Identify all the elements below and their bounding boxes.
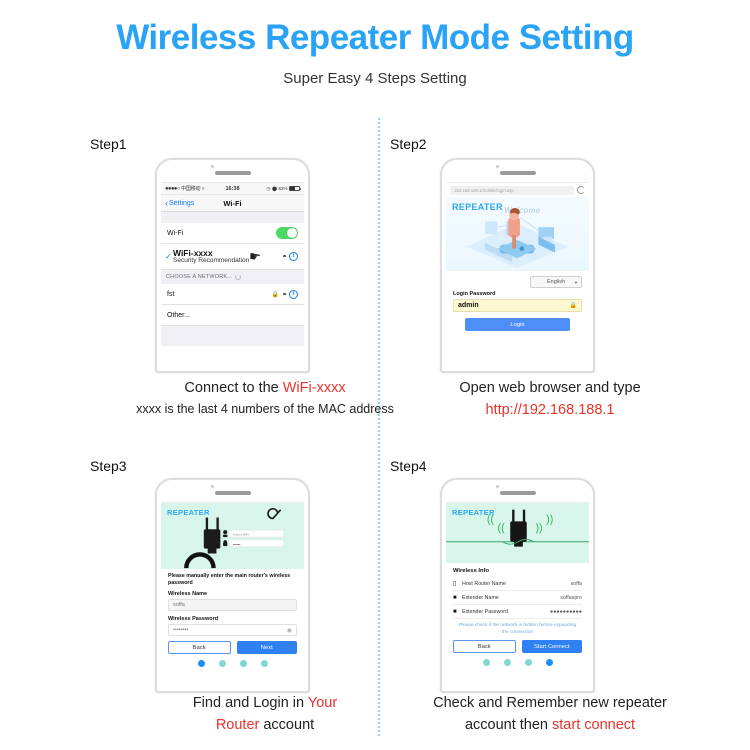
repeater-hero-banner: REPEATER Admin-WiFi •• [161, 503, 304, 569]
url-input[interactable]: 192.168.188.1/mobile/login.asp [450, 186, 574, 195]
ios-status-bar: ●●●●○ 中国移动 ▿ 16:38 ◷ ⬤ 52% [161, 183, 304, 195]
form-buttons: Back Next [168, 641, 297, 654]
step-2-caption: Open web browser and type http://192.168… [400, 378, 700, 422]
checkmark-icon: ✓ [165, 252, 173, 261]
repeater-waves-illustration: (( (( )) )) [446, 503, 589, 563]
signal-dots-icon: ●●●●○ [165, 186, 180, 192]
loading-spinner-icon [235, 274, 241, 280]
lock-icon: 🔒 [272, 291, 279, 298]
router-icon: ▯ [453, 580, 462, 587]
language-select[interactable]: English ▼ [530, 276, 582, 288]
wifi-signal-icon: ◓ [282, 290, 287, 299]
language-value: English [547, 279, 565, 285]
phone-screen: 192.168.188.1/mobile/login.asp REPEATER … [446, 182, 589, 371]
browser-address-bar[interactable]: 192.168.188.1/mobile/login.asp [446, 183, 589, 197]
phone-bezel [442, 160, 593, 182]
clock-label: 16:38 [225, 186, 239, 192]
speaker-icon [500, 491, 536, 495]
phone-bezel [157, 160, 308, 182]
progress-dot [546, 659, 553, 666]
reload-icon[interactable] [577, 186, 585, 194]
repeater-device-illustration: Admin-WiFi •••••• [161, 503, 304, 569]
step-2-phone: 192.168.188.1/mobile/login.asp REPEATER … [440, 158, 595, 373]
info-icon[interactable]: i [289, 252, 298, 261]
step-progress-dots [453, 659, 582, 666]
progress-dot [504, 659, 511, 666]
chevron-down-icon: ▼ [574, 280, 578, 285]
phone-bezel [157, 480, 308, 502]
battery-percent-label: 52% [279, 186, 288, 191]
battery-icon [289, 186, 300, 191]
phone-screen: ●●●●○ 中国移动 ▿ 16:38 ◷ ⬤ 52% ‹ S [161, 182, 304, 371]
step-3-label: Step3 [90, 458, 127, 474]
svg-text:••••••: •••••• [233, 542, 241, 546]
wireless-name-value: soffa [173, 602, 185, 608]
phone-screen: REPEATER (( (( )) )) [446, 502, 589, 691]
step-3-phone: REPEATER Admin-WiFi •• [155, 478, 310, 693]
login-hero-banner: REPEATER Welcome [446, 197, 589, 271]
ios-bottom-gap [161, 326, 304, 346]
lock-icon: 🔒 [570, 302, 577, 309]
isometric-illustration [446, 197, 589, 271]
progress-dot [198, 660, 205, 667]
wifi-signal-icon: ◓ [282, 252, 287, 261]
info-row-label: Host Router Name [462, 581, 571, 587]
extender-icon: ■ [453, 595, 462, 601]
step-4-phone: REPEATER (( (( )) )) [440, 478, 595, 693]
wifi-icon: ▿ [202, 186, 204, 192]
caption-line-1: Connect to the WiFi-xxxx [115, 378, 415, 400]
progress-dot [261, 660, 268, 667]
info-icon[interactable]: i [289, 290, 298, 299]
wifi-toggle[interactable] [276, 227, 298, 239]
start-connect-button[interactable]: Start Connect [522, 640, 583, 653]
step-1-caption: Connect to the WiFi-xxxx xxxx is the las… [115, 378, 415, 419]
ios-nav-bar: ‹ Settings Wi-Fi [161, 195, 304, 212]
wifi-toggle-label: Wi-Fi [167, 230, 276, 237]
camera-icon [496, 165, 499, 168]
progress-dot [219, 660, 226, 667]
info-row-value: soffaspro [560, 595, 582, 601]
info-row-extender-name: ■ Extender Name soffaspro [453, 591, 582, 605]
svg-text:)): )) [546, 513, 553, 525]
caption-line-1: Check and Remember new repeater [380, 693, 720, 715]
form-note: Please manually enter the main router's … [168, 573, 297, 587]
caption-line-2: Router account [115, 715, 415, 737]
caption-line-2: xxxx is the last 4 numbers of the MAC ad… [115, 400, 415, 419]
progress-dot [240, 660, 247, 667]
network-name: Other... [167, 312, 298, 319]
camera-icon [211, 485, 214, 488]
vertical-divider [378, 118, 380, 736]
phone-bezel [442, 480, 593, 502]
repeater-connect-banner: REPEATER (( (( )) )) [446, 503, 589, 563]
infographic-page: Wireless Repeater Mode Setting Super Eas… [0, 0, 750, 750]
extender-icon: ■ [453, 609, 462, 615]
svg-text:((: (( [487, 513, 495, 525]
form-buttons: Back Start Connect [453, 640, 582, 653]
info-row-host-router: ▯ Host Router Name soffa [453, 577, 582, 591]
page-subtitle: Super Easy 4 Steps Setting [0, 70, 750, 87]
wireless-info-panel: Wireless Info ▯ Host Router Name soffa ■… [446, 568, 589, 666]
phone-screen: REPEATER Admin-WiFi •• [161, 502, 304, 691]
info-row-extender-password: ■ Extender Password ●●●●●●●●●● [453, 605, 582, 619]
caption-line-1: Find and Login in Your [115, 693, 415, 715]
svg-text:((: (( [498, 522, 506, 534]
connected-network-subtitle: Security Recommendation [173, 258, 280, 265]
login-password-value: admin [458, 302, 479, 309]
bluetooth-icon: ⬤ [272, 186, 277, 192]
next-button[interactable]: Next [237, 641, 298, 654]
network-name: fst [167, 291, 272, 298]
login-form: English ▼ Login Password admin 🔒 Login [446, 271, 589, 331]
step-1-phone: ●●●●○ 中国移动 ▿ 16:38 ◷ ⬤ 52% ‹ S [155, 158, 310, 373]
step-3-caption: Find and Login in Your Router account [115, 693, 415, 737]
wireless-form: Please manually enter the main router's … [161, 569, 304, 667]
wireless-password-value: •••••••• [173, 627, 188, 633]
caption-line-2: account then start connect [380, 715, 720, 737]
login-password-label: Login Password [453, 291, 582, 297]
wireless-name-label: Wireless Name [168, 591, 297, 597]
connected-network-row[interactable]: ✓ WiFi-xxxx Security Recommendation ◓ i … [161, 244, 304, 270]
alarm-icon: ◷ [267, 186, 271, 192]
wireless-password-input[interactable]: •••••••• ◉ [168, 624, 297, 636]
svg-text:Admin-WiFi: Admin-WiFi [233, 533, 249, 537]
caption-highlight: Your [308, 695, 337, 711]
step-4-caption: Check and Remember new repeater account … [380, 693, 720, 737]
hidden-network-hint: Please check if the network is hidden be… [455, 623, 580, 636]
info-row-value: soffa [571, 581, 582, 587]
speaker-icon [215, 171, 251, 175]
caption-highlight: start connect [552, 717, 635, 733]
caption-highlight: WiFi-xxxx [283, 380, 346, 396]
wireless-password-label: Wireless Password [168, 616, 297, 622]
caption-line-2: http://192.168.188.1 [400, 400, 700, 422]
login-button[interactable]: Login [465, 318, 570, 331]
step-2-label: Step2 [390, 136, 427, 152]
carrier-label: 中国移动 [181, 185, 200, 192]
step-1-label: Step1 [90, 136, 127, 152]
back-button[interactable]: Back [168, 641, 231, 654]
step-4-label: Step4 [390, 458, 427, 474]
network-row-fst[interactable]: fst 🔒 ◓ i [161, 284, 304, 305]
camera-icon [496, 485, 499, 488]
step-progress-dots [168, 660, 297, 667]
wireless-info-title: Wireless Info [453, 568, 582, 574]
progress-dot [483, 659, 490, 666]
wifi-toggle-row[interactable]: Wi-Fi [161, 223, 304, 244]
caption-highlight: Router [216, 717, 260, 733]
language-row: English ▼ [453, 276, 582, 288]
wireless-name-input[interactable]: soffa [168, 599, 297, 611]
info-row-label: Extender Password [462, 609, 550, 615]
caption-line-1: Open web browser and type [400, 378, 700, 400]
ios-gap [161, 212, 304, 223]
camera-icon [211, 165, 214, 168]
section-header-label: CHOOSE A NETWORK... [166, 274, 232, 280]
info-row-label: Extender Name [462, 595, 560, 601]
login-password-input[interactable]: admin 🔒 [453, 299, 582, 312]
speaker-icon [215, 491, 251, 495]
nav-title: Wi-Fi [161, 199, 304, 208]
network-section-header: CHOOSE A NETWORK... [161, 270, 304, 284]
info-row-value: ●●●●●●●●●● [550, 609, 582, 615]
network-row-other[interactable]: Other... [161, 305, 304, 326]
speaker-icon [500, 171, 536, 175]
back-button[interactable]: Back [453, 640, 516, 653]
eye-icon[interactable]: ◉ [287, 627, 292, 634]
progress-dot [525, 659, 532, 666]
page-title: Wireless Repeater Mode Setting [0, 18, 750, 58]
svg-text:)): )) [535, 522, 542, 534]
